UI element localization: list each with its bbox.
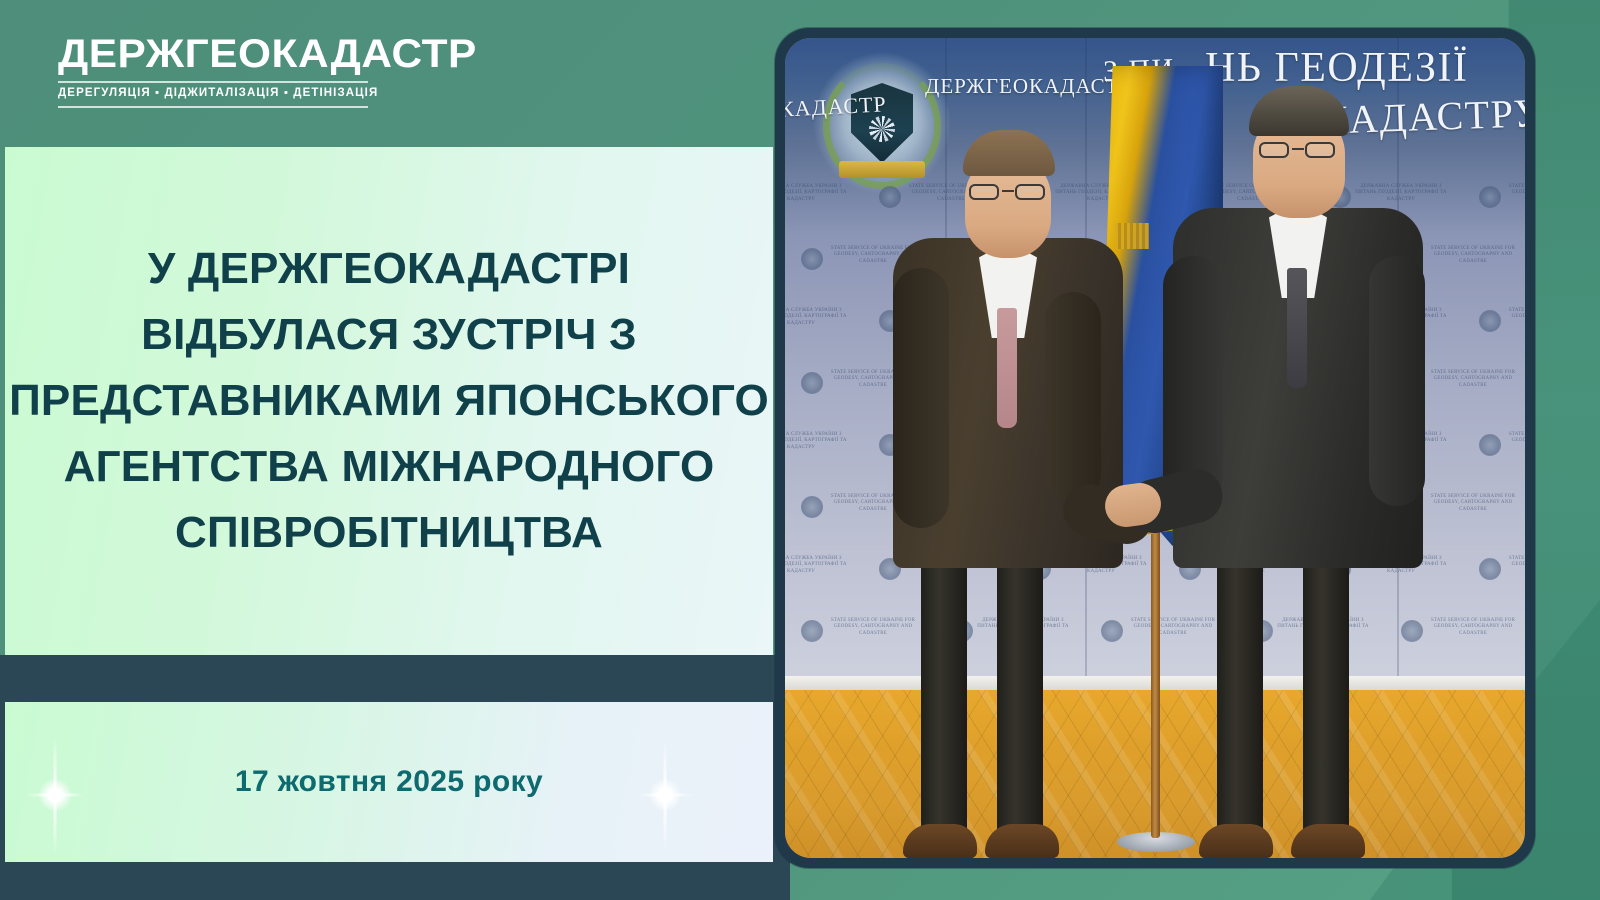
backdrop-pattern-text: STATE SERVICE OF UKRAINE FOR GEODESY, CA… [1427,246,1519,265]
backdrop-pattern-text: ДЕРЖАВНА СЛУЖБА УКРАЇНИ З ПИТАНЬ ГЕОДЕЗІ… [785,308,847,327]
logo-wordmark: ДЕРЖГЕОКАДАСТР [58,34,387,74]
title-line-4: АГЕНТСТВА МІЖНАРОДНОГО [64,445,715,489]
logo-divider-top [58,81,368,83]
backdrop-seal-icon [1479,310,1501,332]
backdrop-pattern-text: STATE SERVICE OF UKRAINE FOR GEODESY, CA… [1427,494,1519,513]
logo-divider-bottom [58,106,368,108]
glasses-icon [1259,142,1337,158]
brand-logo: ДЕРЖГЕОКАДАСТР ДЕРЕГУЛЯЦІЯ ▪ ДІДЖИТАЛІЗА… [58,34,368,108]
backdrop-seal-icon [801,620,823,642]
title-line-5: СПІВРОБІТНИЦТВА [175,511,603,555]
backdrop-pattern-text: STATE SERVICE OF UKRAINE FOR GEODESY, CA… [1505,556,1525,575]
person-left [893,128,1123,858]
meeting-photo: КАДАСТР ДЕРЖГЕОКАДАСТР З ПИ НЬ ГЕОДЕЗІЇ … [785,38,1525,858]
person-right [1173,78,1423,858]
backdrop-pattern-text: STATE SERVICE OF UKRAINE FOR GEODESY, CA… [1427,618,1519,637]
backdrop-pattern-text: ДЕРЖАВНА СЛУЖБА УКРАЇНИ З ПИТАНЬ ГЕОДЕЗІ… [785,184,847,203]
title-line-1: У ДЕРЖГЕОКАДАСТРІ [148,247,630,291]
backdrop-seal-icon [801,496,823,518]
backdrop-seal-icon [1479,434,1501,456]
backdrop-seal-icon [801,372,823,394]
backdrop-pattern-text: STATE SERVICE OF UKRAINE FOR GEODESY, CA… [1505,432,1525,451]
backdrop-seal-icon [1479,558,1501,580]
photo-frame: КАДАСТР ДЕРЖГЕОКАДАСТР З ПИ НЬ ГЕОДЕЗІЇ … [775,28,1535,868]
date-text: 17 жовтня 2025 року [235,765,543,799]
logo-tagline: ДЕРЕГУЛЯЦІЯ ▪ ДІДЖИТАЛІЗАЦІЯ ▪ ДЕТІНІЗАЦ… [58,88,368,100]
glasses-icon [969,184,1047,200]
title-line-2: ВІДБУЛАСЯ ЗУСТРІЧ З [141,313,637,357]
date-card: 17 жовтня 2025 року [5,702,773,862]
backdrop-seal-icon [1479,186,1501,208]
backdrop-pattern-text: STATE SERVICE OF UKRAINE FOR GEODESY, CA… [1505,184,1525,203]
backdrop-word-derzhgeokadastr: ДЕРЖГЕОКАДАСТР [925,74,1132,99]
backdrop-pattern-text: ДЕРЖАВНА СЛУЖБА УКРАЇНИ З ПИТАНЬ ГЕОДЕЗІ… [785,556,847,575]
title-card: У ДЕРЖГЕОКАДАСТРІ ВІДБУЛАСЯ ЗУСТРІЧ З ПР… [5,147,773,655]
backdrop-pattern-text: ДЕРЖАВНА СЛУЖБА УКРАЇНИ З ПИТАНЬ ГЕОДЕЗІ… [785,432,847,451]
poster-canvas: ДЕРЖГЕОКАДАСТР ДЕРЕГУЛЯЦІЯ ▪ ДІДЖИТАЛІЗА… [0,0,1600,900]
title-line-3: ПРЕДСТАВНИКАМИ ЯПОНСЬКОГО [9,379,769,423]
backdrop-pattern-text: STATE SERVICE OF UKRAINE FOR GEODESY, CA… [1505,308,1525,327]
backdrop-pattern-text: STATE SERVICE OF UKRAINE FOR GEODESY, CA… [1427,370,1519,389]
backdrop-seal-icon [801,248,823,270]
